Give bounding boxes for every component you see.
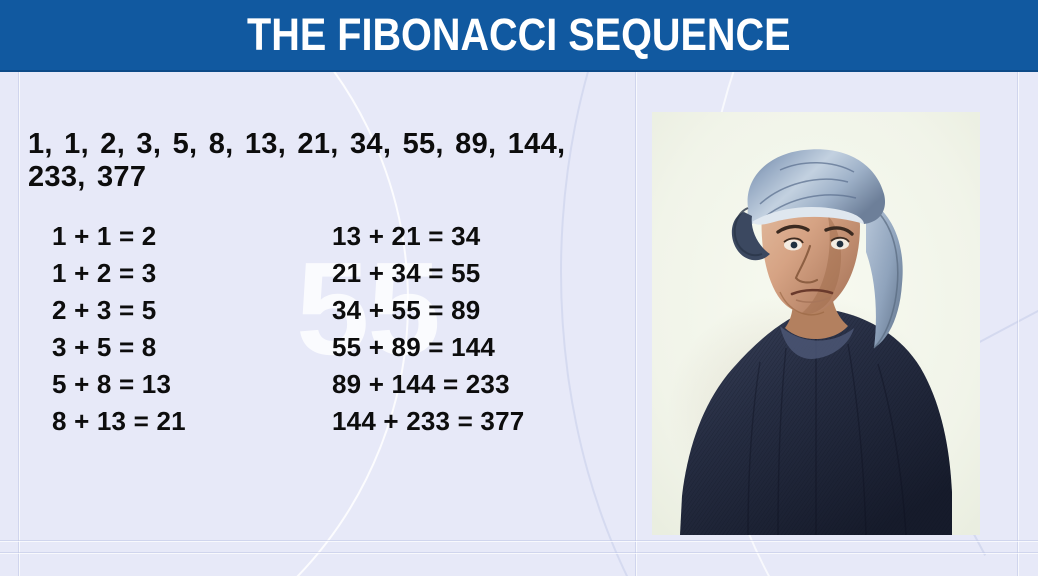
page-title: THE FIBONACCI SEQUENCE: [247, 11, 790, 59]
equations-block: 1 + 1 = 2 1 + 2 = 3 2 + 3 = 5 3 + 5 = 8 …: [0, 218, 640, 448]
slide-canvas: 55 THE FIBONACCI SEQUENCE 1, 1, 2, 3, 5,…: [0, 0, 1038, 576]
equation-row: 34 + 55 = 89: [332, 292, 524, 329]
title-banner: THE FIBONACCI SEQUENCE: [0, 0, 1038, 72]
fibonacci-sequence-text: 1, 1, 2, 3, 5, 8, 13, 21, 34, 55, 89, 14…: [28, 128, 608, 194]
equation-row: 3 + 5 = 8: [52, 329, 186, 366]
equation-row: 1 + 1 = 2: [52, 218, 186, 255]
equations-right-column: 13 + 21 = 34 21 + 34 = 55 34 + 55 = 89 5…: [332, 218, 524, 440]
equation-row: 5 + 8 = 13: [52, 366, 186, 403]
equation-row: 8 + 13 = 21: [52, 403, 186, 440]
equation-row: 21 + 34 = 55: [332, 255, 524, 292]
equation-row: 13 + 21 = 34: [332, 218, 524, 255]
equation-row: 55 + 89 = 144: [332, 329, 524, 366]
portrait-illustration: [652, 112, 980, 535]
fibonacci-portrait-image: [652, 112, 980, 535]
equation-row: 1 + 2 = 3: [52, 255, 186, 292]
equation-row: 144 + 233 = 377: [332, 403, 524, 440]
equation-row: 2 + 3 = 5: [52, 292, 186, 329]
equation-row: 89 + 144 = 233: [332, 366, 524, 403]
equations-left-column: 1 + 1 = 2 1 + 2 = 3 2 + 3 = 5 3 + 5 = 8 …: [52, 218, 186, 440]
